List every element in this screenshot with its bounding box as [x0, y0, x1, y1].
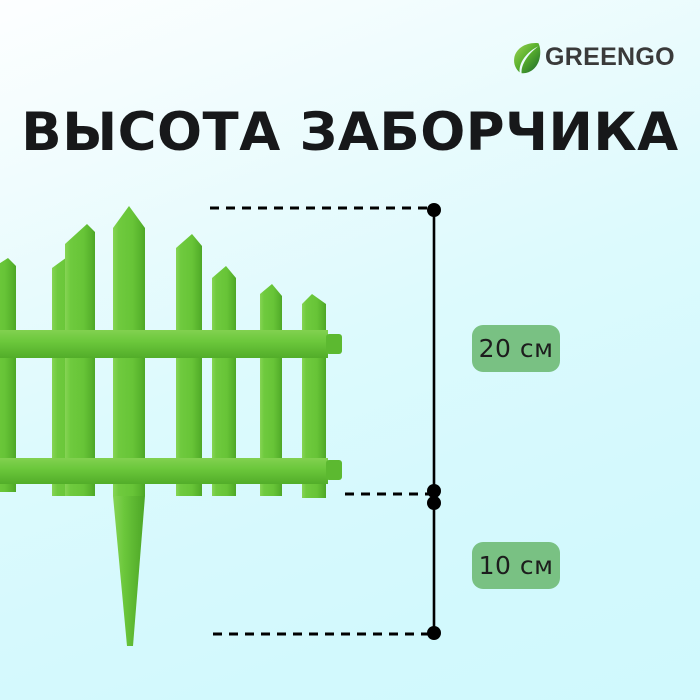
brand-logo: GREENGO — [512, 40, 675, 75]
fence-rail-upper — [0, 330, 328, 358]
fence-illustration — [0, 196, 366, 656]
fence-picket — [176, 234, 202, 496]
connector-tab-upper — [326, 334, 342, 354]
dimension-dot-top — [427, 203, 441, 217]
connector-tab-lower — [326, 460, 342, 480]
measurement-badge-below-ground: 10 см — [472, 542, 560, 589]
fence-rail-lower — [0, 458, 328, 484]
dimension-dot-middle-lower — [427, 496, 441, 510]
measurement-badge-above-ground: 20 см — [472, 325, 560, 372]
dimension-dot-middle-upper — [427, 484, 441, 498]
fence-picket — [0, 258, 16, 492]
fence-picket — [65, 224, 95, 496]
page-title: ВЫСОТА ЗАБОРЧИКА — [0, 102, 700, 163]
brand-name: GREENGO — [545, 45, 675, 70]
infographic-canvas: GREENGO ВЫСОТА ЗАБОРЧИКА — [0, 0, 700, 700]
leaf-icon — [512, 41, 542, 75]
dimension-dot-bottom — [427, 626, 441, 640]
ground-spike — [113, 496, 145, 646]
